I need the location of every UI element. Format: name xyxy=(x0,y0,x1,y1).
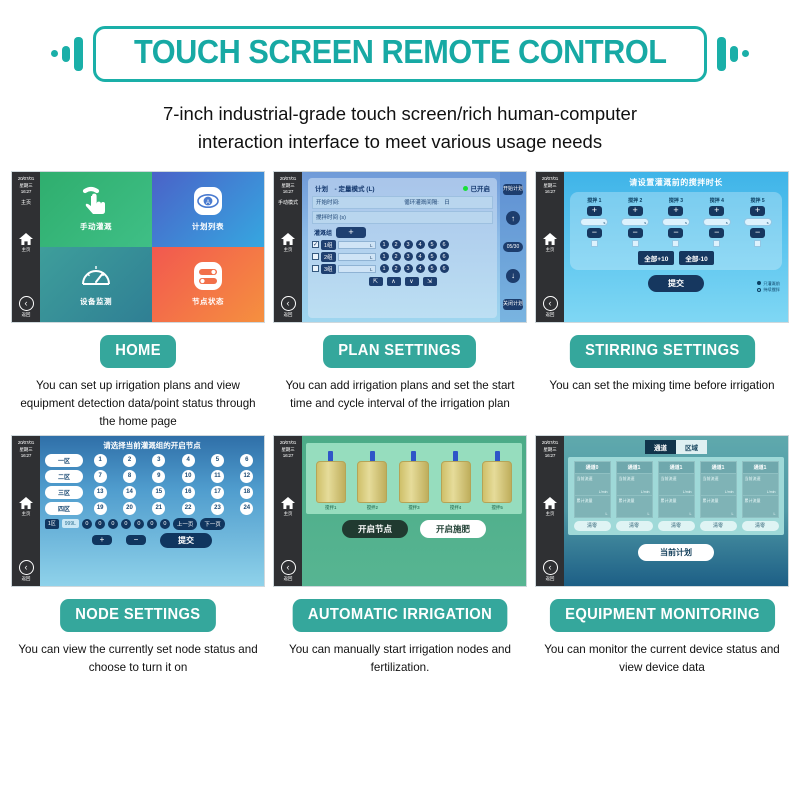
rail-home-button[interactable]: 主页 xyxy=(274,496,302,517)
stir-column-label: 搅拌 3 xyxy=(669,197,683,204)
caption-pill-node: NODE SETTINGS xyxy=(60,599,216,632)
tap-hand-icon xyxy=(78,186,114,216)
rail-mode: 主页 xyxy=(21,199,31,206)
node-zone-row: 三区 13 14 15 16 17 18 xyxy=(45,486,259,499)
channel-total: 累计流量 L xyxy=(700,496,737,518)
group-label: 灌溉组 xyxy=(314,228,332,237)
tank-body-icon xyxy=(357,461,387,503)
rail-back-button[interactable]: ‹ 返回 xyxy=(536,296,564,318)
digit-button[interactable]: 0 xyxy=(160,519,170,529)
channel-flow: 当前流速 L/min xyxy=(742,474,779,496)
node-button[interactable]: 3 xyxy=(404,264,413,273)
stir-time-label: 搅拌时间 (s) xyxy=(316,213,346,221)
rail-date: 20/07/01 xyxy=(542,440,558,447)
rail-home-button[interactable]: 主页 xyxy=(536,496,564,517)
node-zone-row: 二区 7 8 9 10 11 12 xyxy=(45,470,259,483)
stir-column: 搅拌 1 + s − xyxy=(580,197,608,247)
increase-button[interactable]: + xyxy=(92,535,112,545)
rail-weekday: 星期三 xyxy=(542,447,558,454)
tab-channel[interactable]: 通道 xyxy=(645,440,676,454)
row-tag: 2组 xyxy=(321,252,336,262)
node-button[interactable]: 6 xyxy=(440,252,449,261)
device-rail: 20/07/01 星期三 16:27 主页 ‹ 返回 xyxy=(274,436,302,586)
channel-flow: 当前流速 L/min xyxy=(700,474,737,496)
tank-label: 搅拌5 xyxy=(492,505,503,511)
node-button[interactable]: 19 xyxy=(94,502,107,515)
node-button[interactable]: 13 xyxy=(94,486,107,499)
submit-button[interactable]: 提交 xyxy=(648,275,704,292)
node-button[interactable]: 4 xyxy=(416,240,425,249)
back-arrow-icon: ‹ xyxy=(281,296,296,311)
panel-automatic-irrigation: 20/07/01 星期三 16:27 主页 ‹ 返回 xyxy=(269,435,531,677)
rail-home-button[interactable]: 主页 xyxy=(536,232,564,253)
rail-time: 16:27 xyxy=(280,189,296,196)
stir-checkbox[interactable] xyxy=(754,240,761,247)
subtitle-line-2: interaction interface to meet various us… xyxy=(70,128,730,157)
channel-name: 通道1 xyxy=(658,461,695,474)
plan-field-row-1[interactable]: 开始时间: 循环灌溉间隔: 日 xyxy=(312,196,493,209)
stir-column: 搅拌 3 + s − xyxy=(662,197,690,247)
node-button[interactable]: 5 xyxy=(428,264,437,273)
caption-desc-auto: You can manually start irrigation nodes … xyxy=(273,641,527,677)
stir-checkbox[interactable] xyxy=(632,240,639,247)
rail-time: 16:27 xyxy=(280,453,296,460)
stir-minus-button[interactable]: − xyxy=(587,228,602,238)
prev-page-button[interactable]: 上一页 xyxy=(173,518,198,530)
stir-minus-button[interactable]: − xyxy=(750,228,765,238)
node-zone-row: 一区 1 2 3 4 5 6 xyxy=(45,454,259,467)
stir-value-input[interactable]: s xyxy=(744,218,772,226)
plan-status: 已开启 xyxy=(471,186,491,193)
home-tile-label: 计划列表 xyxy=(192,221,224,232)
rail-home-label: 主页 xyxy=(274,247,302,253)
stir-value-input[interactable]: s xyxy=(580,218,608,226)
tank-item[interactable]: 搅拌4 xyxy=(441,451,471,511)
zone-button[interactable]: 三区 xyxy=(45,486,83,499)
stir-checkbox[interactable] xyxy=(672,240,679,247)
channel-flow: 当前流速 L/min xyxy=(574,474,611,496)
node-zone-row: 四区 19 20 21 22 23 24 xyxy=(45,502,259,515)
clear-button[interactable]: 清零 xyxy=(574,521,611,531)
home-icon xyxy=(280,496,296,510)
plan-row[interactable]: ✓ 1组 L 1 2 3 4 5 6 xyxy=(312,240,493,250)
screen-home: 20/07/01 星期三 16:27 主页 主页 ‹ 返回 xyxy=(11,171,265,323)
stirring-title: 请设置灌溉前的搅拌时长 xyxy=(570,177,782,188)
rail-back-label: 返回 xyxy=(12,576,40,582)
device-rail: 20/07/01 星期三 16:27 主页 ‹ 返回 xyxy=(536,172,564,322)
rail-time: 16:27 xyxy=(18,453,34,460)
panel-grid-row-2: 20/07/01 星期三 16:27 主页 ‹ 返回 请选择当前灌溉组的开 xyxy=(0,435,800,677)
rail-home-button[interactable]: 主页 xyxy=(274,232,302,253)
stir-column: 搅拌 5 + s − xyxy=(744,197,772,247)
page-subtitle: 7-inch industrial-grade touch screen/ric… xyxy=(70,100,730,157)
tank-label: 搅拌2 xyxy=(367,505,378,511)
stir-value-input[interactable]: s xyxy=(621,218,649,226)
tank-body-icon xyxy=(441,461,471,503)
device-rail: 20/07/01 星期三 16:27 主页 ‹ 返回 xyxy=(536,436,564,586)
panel-plan-settings: 20/07/01 星期三 16:27 手动模式 主页 ‹ 返回 xyxy=(269,171,531,431)
submit-button[interactable]: 提交 xyxy=(160,533,212,548)
node-button[interactable]: 1 xyxy=(380,240,389,249)
channel-total: 累计流量 L xyxy=(658,496,695,518)
screen-equipment-monitoring: 20/07/01 星期三 16:27 主页 ‹ 返回 xyxy=(535,435,789,587)
stir-checkbox[interactable] xyxy=(591,240,598,247)
node-button[interactable]: 1 xyxy=(94,454,107,467)
rail-home-button[interactable]: 主页 xyxy=(12,496,40,517)
tank-body-icon xyxy=(482,461,512,503)
device-rail: 20/07/01 星期三 16:27 主页 ‹ 返回 xyxy=(12,436,40,586)
clear-button[interactable]: 清零 xyxy=(700,521,737,531)
rail-back-label: 返回 xyxy=(536,312,564,318)
channel-total: 累计流量 L xyxy=(616,496,653,518)
cycle-label: 循环灌溉间隔: xyxy=(404,200,439,206)
back-arrow-icon: ‹ xyxy=(19,560,34,575)
digit-button[interactable]: 0 xyxy=(147,519,157,529)
digit-button[interactable]: 0 xyxy=(134,519,144,529)
node-button[interactable]: 2 xyxy=(392,264,401,273)
back-arrow-icon: ‹ xyxy=(543,560,558,575)
next-page-button[interactable]: 下一页 xyxy=(200,518,225,530)
back-arrow-icon: ‹ xyxy=(543,296,558,311)
stir-plus-button[interactable]: + xyxy=(668,206,683,216)
stir-minus-button[interactable]: − xyxy=(668,228,683,238)
device-rail: 20/07/01 星期三 16:27 主页 主页 ‹ 返回 xyxy=(12,172,40,322)
tank-item[interactable]: 搅拌5 xyxy=(482,451,512,511)
stir-value-input[interactable]: s xyxy=(662,218,690,226)
home-tile-label: 设备监测 xyxy=(80,296,112,307)
node-button[interactable]: 16 xyxy=(182,486,195,499)
panel-equipment-monitoring: 20/07/01 星期三 16:27 主页 ‹ 返回 xyxy=(531,435,793,677)
rail-date: 20/07/01 xyxy=(18,440,34,447)
caption-pill-plan: PLAN SETTINGS xyxy=(323,335,476,368)
tank-label: 搅拌1 xyxy=(325,505,336,511)
stir-column: 搅拌 2 + s − xyxy=(621,197,649,247)
current-plan-button[interactable]: 当前计划 xyxy=(638,544,714,561)
stir-minus-button[interactable]: − xyxy=(709,228,724,238)
row-tag: 1组 xyxy=(321,240,336,250)
page-header: TOUCH SCREEN REMOTE CONTROL 7-inch indus… xyxy=(0,0,800,157)
channel-name: 通道0 xyxy=(574,461,611,474)
node-button[interactable]: 2 xyxy=(123,454,136,467)
rail-back-button[interactable]: ‹ 返回 xyxy=(536,560,564,582)
start-time-label: 开始时间: xyxy=(316,198,401,206)
zone-button[interactable]: 二区 xyxy=(45,470,83,483)
row-checkbox[interactable]: ✓ xyxy=(312,241,319,248)
start-node-button[interactable]: 开启节点 xyxy=(342,520,408,538)
scroll-last-button[interactable]: ⇲ xyxy=(423,277,437,286)
volume-value: 999L xyxy=(62,519,79,528)
page-title: TOUCH SCREEN REMOTE CONTROL xyxy=(134,35,666,70)
rail-time: 16:27 xyxy=(18,189,34,196)
rail-weekday: 星期三 xyxy=(18,183,34,190)
plan-title: 计划 - 定量模式 (L) xyxy=(315,183,375,193)
node-button[interactable]: 17 xyxy=(211,486,224,499)
gauge-icon xyxy=(80,261,112,291)
channel-card[interactable]: 通道1 当前流速 L/min 累计流量 L 清零 xyxy=(658,461,695,531)
panel-stirring-settings: 20/07/01 星期三 16:27 主页 ‹ 返回 请设置灌溉前的搅拌时 xyxy=(531,171,793,431)
node-button[interactable]: 5 xyxy=(428,240,437,249)
node-button[interactable]: 22 xyxy=(182,502,195,515)
clear-button[interactable]: 清零 xyxy=(742,521,779,531)
node-button[interactable]: 15 xyxy=(152,486,165,499)
radio-on-icon xyxy=(757,281,761,285)
stir-plus-button[interactable]: + xyxy=(709,206,724,216)
panel-home: 20/07/01 星期三 16:27 主页 主页 ‹ 返回 xyxy=(7,171,269,431)
rail-date: 20/07/01 xyxy=(542,176,558,183)
start-plan-button[interactable]: 开始计划 xyxy=(503,184,523,194)
node-button[interactable]: 1 xyxy=(380,252,389,261)
node-button[interactable]: 5 xyxy=(211,454,224,467)
node-button[interactable]: 5 xyxy=(428,252,437,261)
svg-text:A: A xyxy=(206,200,210,206)
equalizer-left-icon xyxy=(51,37,83,71)
rail-back-label: 返回 xyxy=(536,576,564,582)
node-button[interactable]: 4 xyxy=(416,252,425,261)
node-button[interactable]: 23 xyxy=(211,502,224,515)
channel-flow: 当前流速 L/min xyxy=(616,474,653,496)
caption-pill-stirring: STIRRING SETTINGS xyxy=(570,335,755,368)
node-button[interactable]: 10 xyxy=(182,470,195,483)
caption-pill-home: HOME xyxy=(100,335,176,368)
rail-weekday: 星期三 xyxy=(280,447,296,454)
home-icon xyxy=(542,232,558,246)
title-box: TOUCH SCREEN REMOTE CONTROL xyxy=(93,26,708,82)
subtitle-line-1: 7-inch industrial-grade touch screen/ric… xyxy=(70,100,730,129)
stir-column-label: 搅拌 4 xyxy=(710,197,724,204)
screen-plan-settings: 20/07/01 星期三 16:27 手动模式 主页 ‹ 返回 xyxy=(273,171,527,323)
equalizer-right-icon xyxy=(717,37,749,71)
plan-field-row-2[interactable]: 搅拌时间 (s) xyxy=(312,211,493,224)
add-group-button[interactable]: + xyxy=(336,227,366,238)
scroll-first-button[interactable]: ⇱ xyxy=(369,277,383,286)
start-fertilization-button[interactable]: 开启施肥 xyxy=(420,520,486,538)
node-title: 请选择当前灌溉组的开启节点 xyxy=(45,440,259,451)
plan-side-rail: 开始计划 ↑ 05/30 ↓ 关闭计划 xyxy=(500,172,526,322)
rail-time: 16:27 xyxy=(542,189,558,196)
toggles-icon xyxy=(193,261,223,291)
stop-plan-button[interactable]: 关闭计划 xyxy=(503,299,523,309)
node-button[interactable]: 18 xyxy=(240,486,253,499)
row-volume-input[interactable]: L xyxy=(338,241,376,249)
channel-card[interactable]: 通道1 当前流速 L/min 累计流量 L 清零 xyxy=(742,461,779,531)
home-icon xyxy=(542,496,558,510)
node-button[interactable]: 11 xyxy=(211,470,224,483)
tank-body-icon xyxy=(316,461,346,503)
node-button[interactable]: 21 xyxy=(152,502,165,515)
node-button[interactable]: 2 xyxy=(392,252,401,261)
rail-back-button[interactable]: ‹ 返回 xyxy=(12,296,40,318)
plan-row[interactable]: 2组 L 1 2 3 4 5 6 xyxy=(312,252,493,262)
rail-date: 20/07/01 xyxy=(280,440,296,447)
cycle-value: 日 xyxy=(444,200,450,206)
home-tile-node-status[interactable]: 节点状态 xyxy=(152,247,264,322)
home-tile-manual-irrigation[interactable]: 手动灌溉 xyxy=(40,172,152,247)
rail-home-label: 主页 xyxy=(12,247,40,253)
rail-back-button[interactable]: ‹ 返回 xyxy=(12,560,40,582)
node-button[interactable]: 3 xyxy=(152,454,165,467)
channel-card[interactable]: 通道0 当前流速 L/min 累计流量 L 清零 xyxy=(574,461,611,531)
rail-date: 20/07/01 xyxy=(280,176,296,183)
rail-time: 16:27 xyxy=(542,453,558,460)
caption-desc-stirring: You can set the mixing time before irrig… xyxy=(535,377,789,395)
stir-plus-button[interactable]: + xyxy=(750,206,765,216)
rail-back-button[interactable]: ‹ 返回 xyxy=(274,560,302,582)
rail-weekday: 星期三 xyxy=(542,183,558,190)
node-button[interactable]: 8 xyxy=(123,470,136,483)
stir-checkbox[interactable] xyxy=(713,240,720,247)
home-icon xyxy=(18,232,34,246)
tank-item[interactable]: 搅拌1 xyxy=(316,451,346,511)
node-button[interactable]: 4 xyxy=(182,454,195,467)
rail-home-button[interactable]: 主页 xyxy=(12,232,40,253)
row-checkbox[interactable] xyxy=(312,265,319,272)
channel-card[interactable]: 通道1 当前流速 L/min 累计流量 L 清零 xyxy=(616,461,653,531)
zone-button[interactable]: 四区 xyxy=(45,502,83,515)
digit-button[interactable]: 0 xyxy=(95,519,105,529)
rail-home-label: 主页 xyxy=(274,511,302,517)
page-down-button[interactable]: ↓ xyxy=(506,269,520,283)
row-tag: 3组 xyxy=(321,264,336,274)
radio-off-icon xyxy=(757,288,761,292)
rail-weekday: 星期三 xyxy=(280,183,296,190)
rail-home-label: 主页 xyxy=(12,511,40,517)
rail-mode: 手动模式 xyxy=(278,199,298,206)
home-icon xyxy=(280,232,296,246)
home-tile-equipment-monitor[interactable]: 设备监测 xyxy=(40,247,152,322)
stir-plus-button[interactable]: + xyxy=(587,206,602,216)
screen-node-settings: 20/07/01 星期三 16:27 主页 ‹ 返回 请选择当前灌溉组的开 xyxy=(11,435,265,587)
panel-node-settings: 20/07/01 星期三 16:27 主页 ‹ 返回 请选择当前灌溉组的开 xyxy=(7,435,269,677)
zone-button[interactable]: 一区 xyxy=(45,454,83,467)
caption-desc-plan: You can add irrigation plans and set the… xyxy=(273,377,527,413)
node-button[interactable]: 12 xyxy=(240,470,253,483)
caption-desc-equipment: You can monitor the current device statu… xyxy=(535,641,789,677)
back-arrow-icon: ‹ xyxy=(19,296,34,311)
plan-row[interactable]: 3组 L 1 2 3 4 5 6 xyxy=(312,264,493,274)
all-minus-button[interactable]: 全部-10 xyxy=(679,251,713,265)
scroll-up-button[interactable]: ∧ xyxy=(387,277,401,286)
screen-stirring-settings: 20/07/01 星期三 16:27 主页 ‹ 返回 请设置灌溉前的搅拌时 xyxy=(535,171,789,323)
node-button[interactable]: 2 xyxy=(392,240,401,249)
rail-back-button[interactable]: ‹ 返回 xyxy=(274,296,302,318)
node-button[interactable]: 7 xyxy=(94,470,107,483)
node-button[interactable]: 6 xyxy=(440,264,449,273)
rail-home-label: 主页 xyxy=(536,247,564,253)
device-rail: 20/07/01 星期三 16:27 手动模式 主页 ‹ 返回 xyxy=(274,172,302,322)
node-button[interactable]: 24 xyxy=(240,502,253,515)
compass-icon: A xyxy=(193,186,223,216)
caption-pill-equipment: EQUIPMENT MONITORING xyxy=(549,599,774,632)
stir-column: 搅拌 4 + s − xyxy=(703,197,731,247)
tank-label: 搅拌4 xyxy=(450,505,461,511)
rail-back-label: 返回 xyxy=(12,312,40,318)
tank-item[interactable]: 搅拌2 xyxy=(357,451,387,511)
rail-back-label: 返回 xyxy=(274,576,302,582)
node-button[interactable]: 3 xyxy=(404,240,413,249)
node-button[interactable]: 1 xyxy=(380,264,389,273)
stir-value-input[interactable]: s xyxy=(703,218,731,226)
row-volume-input[interactable]: L xyxy=(338,253,376,261)
stir-column-label: 搅拌 5 xyxy=(750,197,764,204)
clear-button[interactable]: 清零 xyxy=(616,521,653,531)
back-arrow-icon: ‹ xyxy=(281,560,296,575)
page-up-button[interactable]: ↑ xyxy=(506,211,520,225)
tank-body-icon xyxy=(399,461,429,503)
channel-name: 通道1 xyxy=(616,461,653,474)
plan-counter: 05/30 xyxy=(503,242,524,252)
row-checkbox[interactable] xyxy=(312,253,319,260)
radio-option-continuous[interactable]: 持续搅拌 xyxy=(757,287,780,294)
rail-weekday: 星期三 xyxy=(18,447,34,454)
node-button[interactable]: 6 xyxy=(240,454,253,467)
title-row: TOUCH SCREEN REMOTE CONTROL xyxy=(0,26,800,82)
all-plus-button[interactable]: 全部+10 xyxy=(638,251,674,265)
stir-column-label: 搅拌 2 xyxy=(628,197,642,204)
node-button[interactable]: 6 xyxy=(440,240,449,249)
rail-back-label: 返回 xyxy=(274,312,302,318)
stir-plus-button[interactable]: + xyxy=(628,206,643,216)
node-button[interactable]: 9 xyxy=(152,470,165,483)
channel-flow: 当前流速 L/min xyxy=(658,474,695,496)
channel-total: 累计流量 L xyxy=(742,496,779,518)
home-tile-plan-list[interactable]: A 计划列表 xyxy=(152,172,264,247)
caption-pill-auto: AUTOMATIC IRRIGATION xyxy=(293,599,508,632)
caption-desc-home: You can set up irrigation plans and view… xyxy=(11,377,265,431)
panel-grid-row-1: 20/07/01 星期三 16:27 主页 主页 ‹ 返回 xyxy=(0,171,800,431)
channel-card[interactable]: 通道1 当前流速 L/min 累计流量 L 清零 xyxy=(700,461,737,531)
digit-button[interactable]: 0 xyxy=(108,519,118,529)
home-tile-label: 节点状态 xyxy=(192,296,224,307)
current-zone-tag: 1区 xyxy=(45,519,59,529)
row-volume-input[interactable]: L xyxy=(338,265,376,273)
home-tile-grid: 手动灌溉 A 计划列表 xyxy=(40,172,264,322)
scroll-down-button[interactable]: ∨ xyxy=(405,277,419,286)
stir-column-label: 搅拌 1 xyxy=(587,197,601,204)
home-tile-label: 手动灌溉 xyxy=(80,221,112,232)
digit-button[interactable]: 0 xyxy=(82,519,92,529)
channel-total: 累计流量 L xyxy=(574,496,611,518)
node-button[interactable]: 3 xyxy=(404,252,413,261)
node-button[interactable]: 14 xyxy=(123,486,136,499)
stir-minus-button[interactable]: − xyxy=(628,228,643,238)
channel-name: 通道1 xyxy=(742,461,779,474)
decrease-button[interactable]: − xyxy=(126,535,146,545)
tank-label: 搅拌3 xyxy=(408,505,419,511)
caption-desc-node: You can view the currently set node stat… xyxy=(11,641,265,677)
screen-automatic-irrigation: 20/07/01 星期三 16:27 主页 ‹ 返回 xyxy=(273,435,527,587)
node-button[interactable]: 4 xyxy=(416,264,425,273)
rail-home-label: 主页 xyxy=(536,511,564,517)
home-icon xyxy=(18,496,34,510)
channel-name: 通道1 xyxy=(700,461,737,474)
tank-item[interactable]: 搅拌3 xyxy=(399,451,429,511)
tab-area[interactable]: 区域 xyxy=(676,440,707,454)
node-button[interactable]: 20 xyxy=(123,502,136,515)
status-led-icon xyxy=(463,186,468,191)
rail-date: 20/07/01 xyxy=(18,176,34,183)
digit-button[interactable]: 0 xyxy=(121,519,131,529)
clear-button[interactable]: 清零 xyxy=(658,521,695,531)
